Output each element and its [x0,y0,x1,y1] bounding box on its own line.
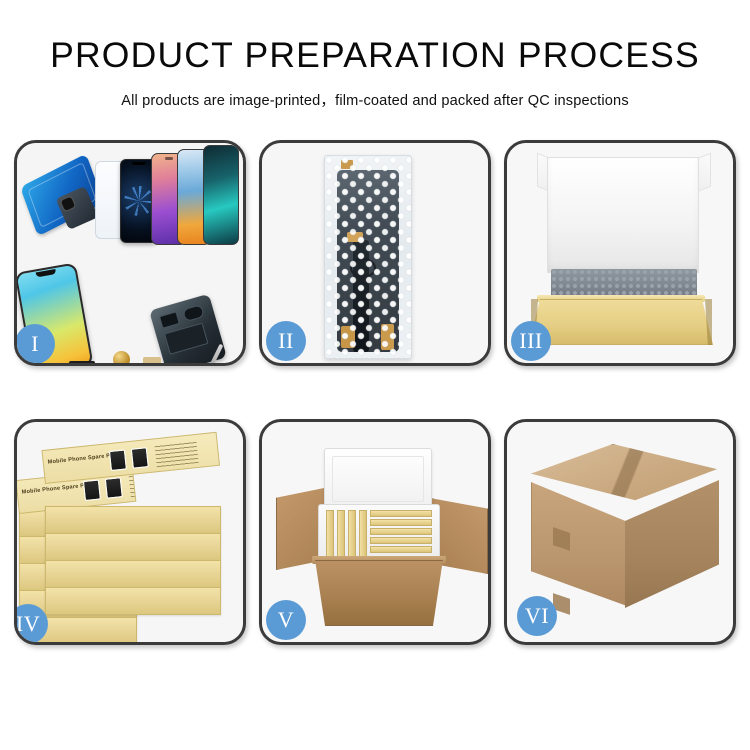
header: PRODUCT PREPARATION PROCESS All products… [0,0,750,125]
yellow-box [370,519,432,526]
front-camera [165,157,173,160]
bubble-texture [325,156,411,358]
yellow-box [370,546,432,553]
stacked-boxes-scene: Mobile Phone Spare Parts Mobile Phone Sp… [17,422,243,642]
carton-front-panel [308,560,450,626]
page-title: PRODUCT PREPARATION PROCESS [50,38,700,74]
step-panel-1[interactable]: I [14,140,246,366]
yellow-box [370,510,432,517]
step-panel-3[interactable]: III [504,140,736,366]
battery-module [164,323,209,355]
page-subtitle: All products are image-printed，film-coat… [121,89,629,110]
box-slab [45,506,221,534]
printed-box-lid-right: Mobile Phone Spare Parts [41,432,220,484]
yellow-box [326,510,334,558]
yellow-box [370,528,432,535]
product-preparation-infographic: PRODUCT PREPARATION PROCESS All products… [0,0,750,750]
step-image-1 [17,143,243,363]
step-badge-1: I [15,324,55,364]
box-lid-white [547,157,699,273]
step-panel-5[interactable]: V [259,419,491,645]
step-panel-2[interactable]: II [259,140,491,366]
carton-right-face [625,480,719,608]
step-badge-6: VI [517,596,557,636]
yellow-box [348,510,356,558]
box-slab [45,560,221,588]
yellow-boxes-group [326,510,432,558]
phone-notch [132,162,146,165]
box-stack-right: Mobile Phone Spare Parts [45,452,221,642]
phone-notch [36,269,57,277]
box-slab [45,533,221,561]
camera-module [182,304,205,322]
wallpaper-graphic [124,186,154,216]
step-image-4: Mobile Phone Spare Parts Mobile Phone Sp… [17,422,243,642]
phone-parts-collage-scene [17,143,243,363]
step-badge-3: III [511,321,551,361]
box-label-phone-image [109,449,127,471]
yellow-box [370,537,432,544]
flex-cable-1 [69,361,95,363]
carton-left-face [531,482,627,606]
phone-display-teal [203,145,239,245]
gold-contact-disc [113,351,130,363]
step-panel-4[interactable]: Mobile Phone Spare Parts Mobile Phone Sp… [14,419,246,645]
styrofoam-lid [324,448,432,510]
internal-module [159,311,180,328]
yellow-box [359,510,367,558]
step-badge-2: II [266,321,306,361]
box-label-spec-lines [155,441,199,467]
process-steps-grid: I II [14,140,736,680]
box-slab [45,587,221,615]
yellow-box [337,510,345,558]
kraft-box-front [529,299,713,345]
bubble-wrap-bag [324,155,412,359]
box-label-phone-image [131,447,149,469]
step-badge-5: V [266,600,306,640]
step-panel-6[interactable]: VI [504,419,736,645]
flex-cable-2 [143,357,161,363]
